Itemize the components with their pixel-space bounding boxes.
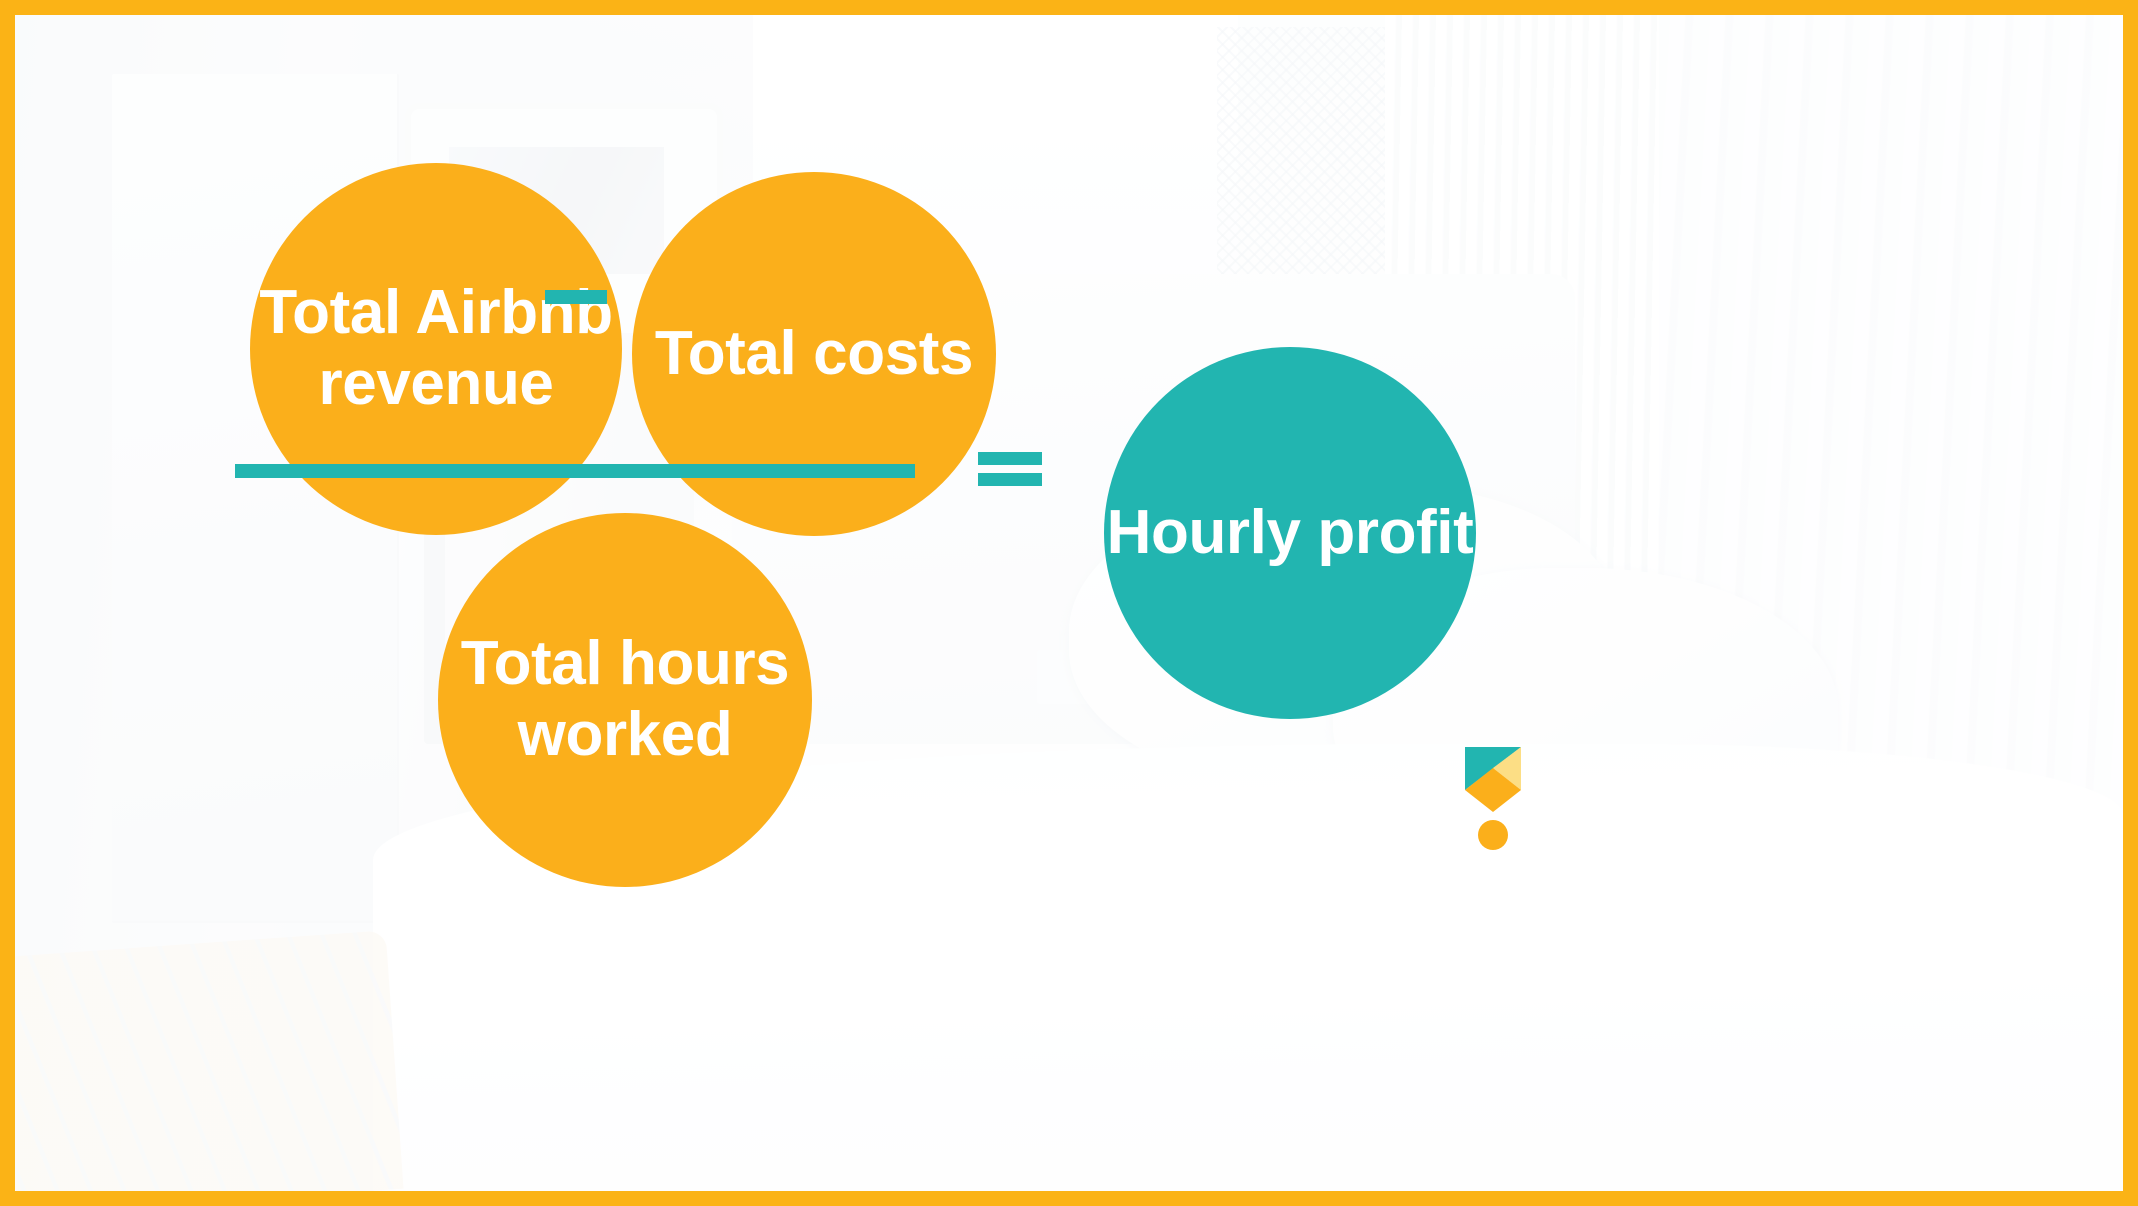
background-white-veil xyxy=(15,15,2123,1191)
circle-total-airbnb-revenue: Total Airbnb revenue xyxy=(250,163,622,535)
circle-total-costs: Total costs xyxy=(632,172,996,536)
background-photo xyxy=(15,15,2123,1191)
equals-bar-top xyxy=(978,452,1042,465)
brand-logo-svg xyxy=(1462,744,1524,850)
equals-bar-bottom xyxy=(978,473,1042,486)
circle-total-hours-worked: Total hours worked xyxy=(438,513,812,887)
circle-label-total-hours-worked: Total hours worked xyxy=(438,629,812,770)
fraction-divider-bar xyxy=(235,464,915,478)
equals-operator-icon xyxy=(978,452,1042,486)
circle-label-hourly-profit: Hourly profit xyxy=(1107,498,1474,569)
circle-hourly-profit: Hourly profit xyxy=(1104,347,1476,719)
minus-operator-icon xyxy=(545,290,607,304)
brand-logo-icon xyxy=(1462,744,1524,850)
slide-canvas: Total Airbnb revenue Total costs Total h… xyxy=(0,0,2138,1206)
logo-orange-dot xyxy=(1478,820,1508,850)
circle-label-total-costs: Total costs xyxy=(655,319,973,390)
